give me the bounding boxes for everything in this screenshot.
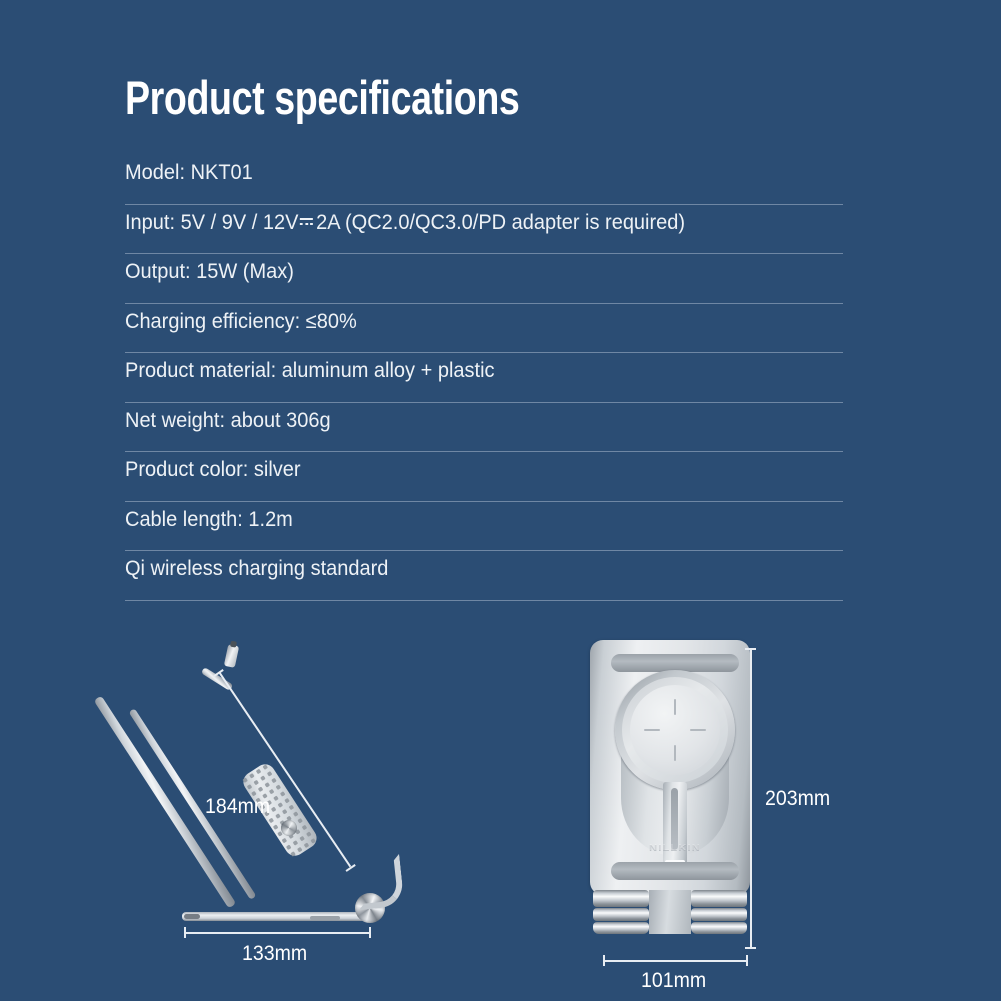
spec-row-charging-efficiency: Charging efficiency: ≤80% <box>125 304 843 354</box>
spec-row-net-weight: Net weight: about 306g <box>125 403 843 453</box>
stand-adjustment-knob <box>281 820 297 836</box>
spec-row-qi-standard: Qi wireless charging standard <box>125 551 843 601</box>
charger-crosshair-right-icon <box>690 729 706 731</box>
dimension-line-height <box>750 648 752 948</box>
dimension-tick-width-left <box>603 955 605 966</box>
stand-hinge-left <box>593 890 649 934</box>
spec-row-product-color: Product color: silver <box>125 452 843 502</box>
dimension-label-diagonal: 184mm <box>205 795 270 819</box>
stand-bottom-grip-pad <box>611 862 739 880</box>
stand-top-tip <box>224 644 239 668</box>
wireless-charger-outer-ring <box>615 670 735 790</box>
stand-phone-hook <box>353 854 404 911</box>
product-figures: 184mm 133mm <box>0 600 1001 1001</box>
dimension-line-base <box>184 932 370 934</box>
dimension-tick-base-right <box>369 927 371 938</box>
spec-row-product-material: Product material: aluminum alloy + plast… <box>125 353 843 403</box>
stand-slider-slot <box>671 788 678 850</box>
stand-center-slider <box>663 782 687 874</box>
dimension-tick-height-bottom <box>745 947 756 949</box>
dimension-tick-base-left <box>184 927 186 938</box>
charger-crosshair-top-icon <box>674 699 676 715</box>
stand-hinge-center-block <box>649 890 691 934</box>
product-specifications-page: Product specifications Model: NKT01 Inpu… <box>0 0 1001 1001</box>
spec-input-prefix: Input: 5V / 9V / 12V <box>125 210 298 234</box>
dimension-label-height: 203mm <box>765 787 830 811</box>
spec-text-charging-efficiency: Charging efficiency: ≤80% <box>125 309 357 334</box>
charger-crosshair-left-icon <box>644 729 660 731</box>
spec-row-cable-length: Cable length: 1.2m <box>125 502 843 552</box>
spec-text-net-weight: Net weight: about 306g <box>125 408 331 433</box>
brand-logo: NILLKIN <box>628 844 722 853</box>
wireless-charger-inner-ring <box>622 677 728 783</box>
specifications-list: Model: NKT01 Input: 5V / 9V / 12V2A (QC2… <box>125 155 843 601</box>
spec-row-input: Input: 5V / 9V / 12V2A (QC2.0/QC3.0/PD a… <box>125 205 843 255</box>
spec-text-model: Model: NKT01 <box>125 160 253 185</box>
dimension-tick-width-right <box>746 955 748 966</box>
spec-text-product-material: Product material: aluminum alloy + plast… <box>125 358 495 383</box>
dc-power-icon <box>300 215 314 227</box>
spec-text-input: Input: 5V / 9V / 12V2A (QC2.0/QC3.0/PD a… <box>125 210 685 235</box>
spec-text-qi-standard: Qi wireless charging standard <box>125 556 388 581</box>
spec-row-model: Model: NKT01 <box>125 155 843 205</box>
dimension-line-width <box>603 960 747 962</box>
dimension-label-width: 101mm <box>641 969 706 993</box>
stand-body-plate: NILLKIN <box>590 640 750 895</box>
spec-text-cable-length: Cable length: 1.2m <box>125 507 293 532</box>
hinge-left-barrel-2 <box>593 908 649 921</box>
spec-text-product-color: Product color: silver <box>125 457 301 482</box>
spec-row-output: Output: 15W (Max) <box>125 254 843 304</box>
hinge-left-barrel-3 <box>593 922 649 934</box>
stand-side-view-figure: 184mm 133mm <box>170 640 420 960</box>
dimension-label-base: 133mm <box>242 942 307 966</box>
spec-input-suffix: 2A (QC2.0/QC3.0/PD adapter is required) <box>316 210 685 234</box>
stand-hinge-right <box>691 890 747 934</box>
page-title: Product specifications <box>125 72 519 124</box>
wireless-charger-face <box>630 685 720 775</box>
dimension-tick-height-top <box>745 648 756 650</box>
hinge-right-barrel-3 <box>691 922 747 934</box>
hinge-right-barrel-2 <box>691 908 747 921</box>
hinge-right-barrel-1 <box>691 890 747 907</box>
spec-text-output: Output: 15W (Max) <box>125 259 294 284</box>
stand-front-view-figure: NILLKIN 203mm 10 <box>585 635 765 965</box>
charger-crosshair-bottom-icon <box>674 745 676 761</box>
hinge-left-barrel-1 <box>593 890 649 907</box>
stand-base-bar <box>182 912 370 921</box>
